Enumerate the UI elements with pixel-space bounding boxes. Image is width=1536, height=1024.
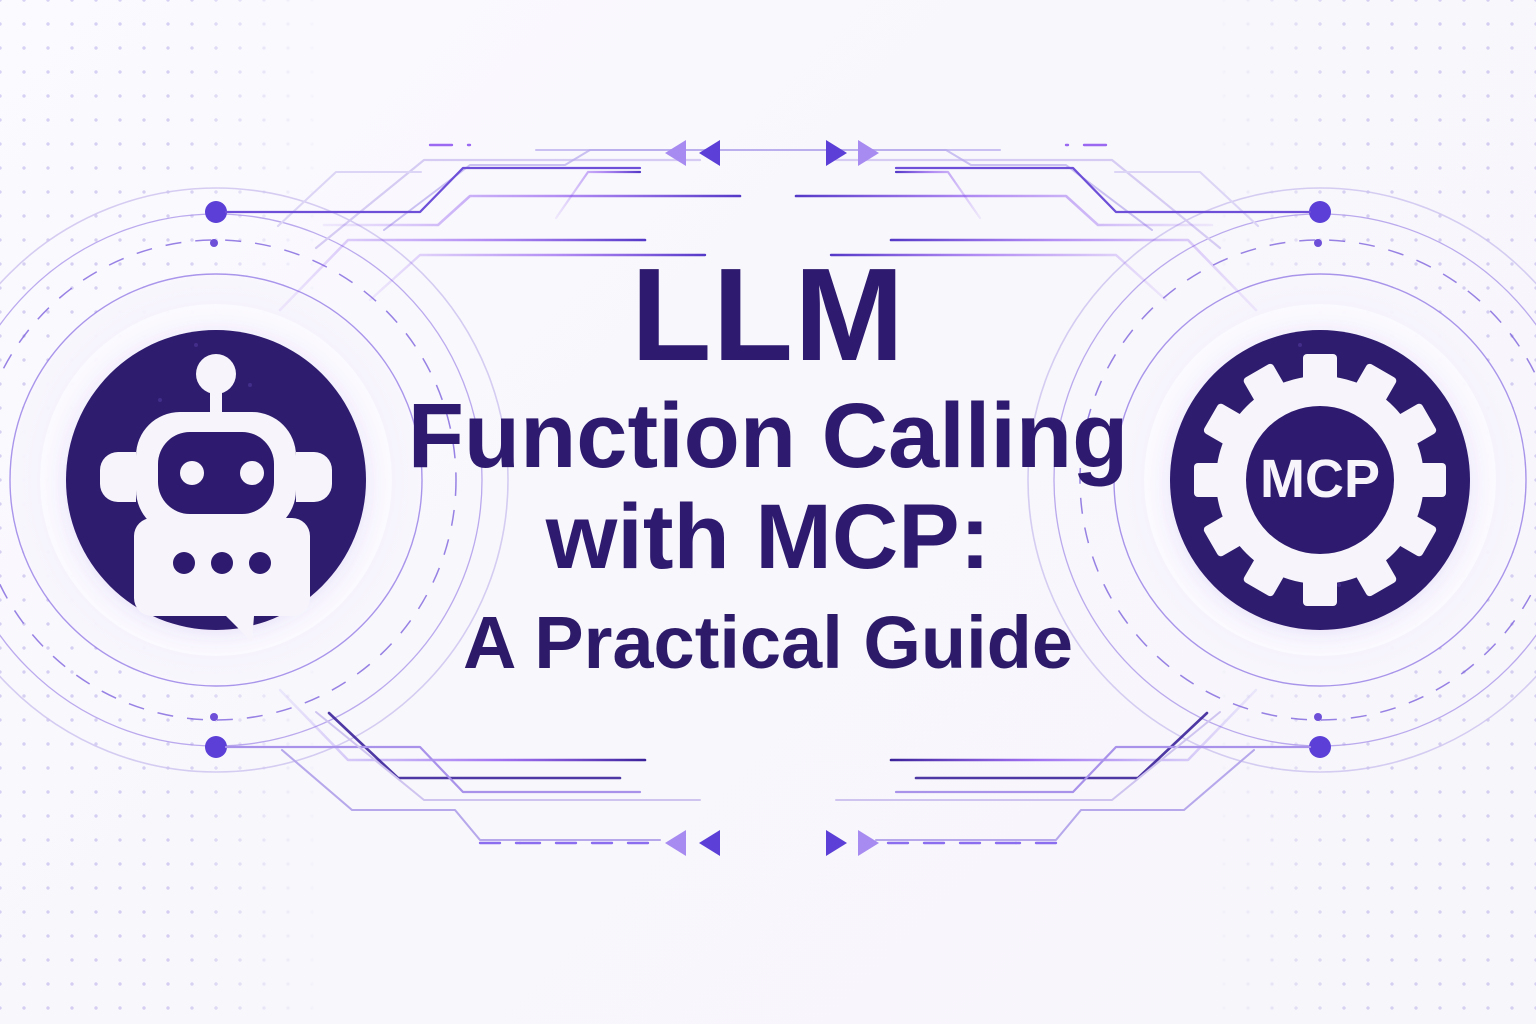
left-triangle-dark-icon (699, 140, 720, 166)
right-triangle-dark-icon (826, 140, 847, 166)
left-triangle-light-icon (665, 140, 686, 166)
circuit-traces-bottom-right (636, 690, 1331, 843)
left-triangle-light-icon (665, 830, 686, 856)
right-triangle-dark-icon (826, 830, 847, 856)
title-line-with-mcp: with MCP: (390, 486, 1146, 589)
poster-canvas: MCP (0, 0, 1536, 1024)
title-line-function-calling: Function Calling (390, 387, 1146, 486)
title-line-subtitle: A Practical Guide (390, 599, 1146, 688)
left-triangle-dark-icon (699, 830, 720, 856)
arrow-markers-top (665, 140, 879, 166)
right-triangle-light-icon (858, 830, 879, 856)
poster-title-block: LLM Function Calling with MCP: A Practic… (390, 248, 1146, 688)
right-triangle-light-icon (858, 140, 879, 166)
circuit-traces-bottom-left (205, 690, 900, 843)
title-line-llm: LLM (390, 248, 1146, 383)
arrow-markers-bottom (665, 830, 879, 856)
mcp-gear-label: MCP (1260, 449, 1380, 509)
